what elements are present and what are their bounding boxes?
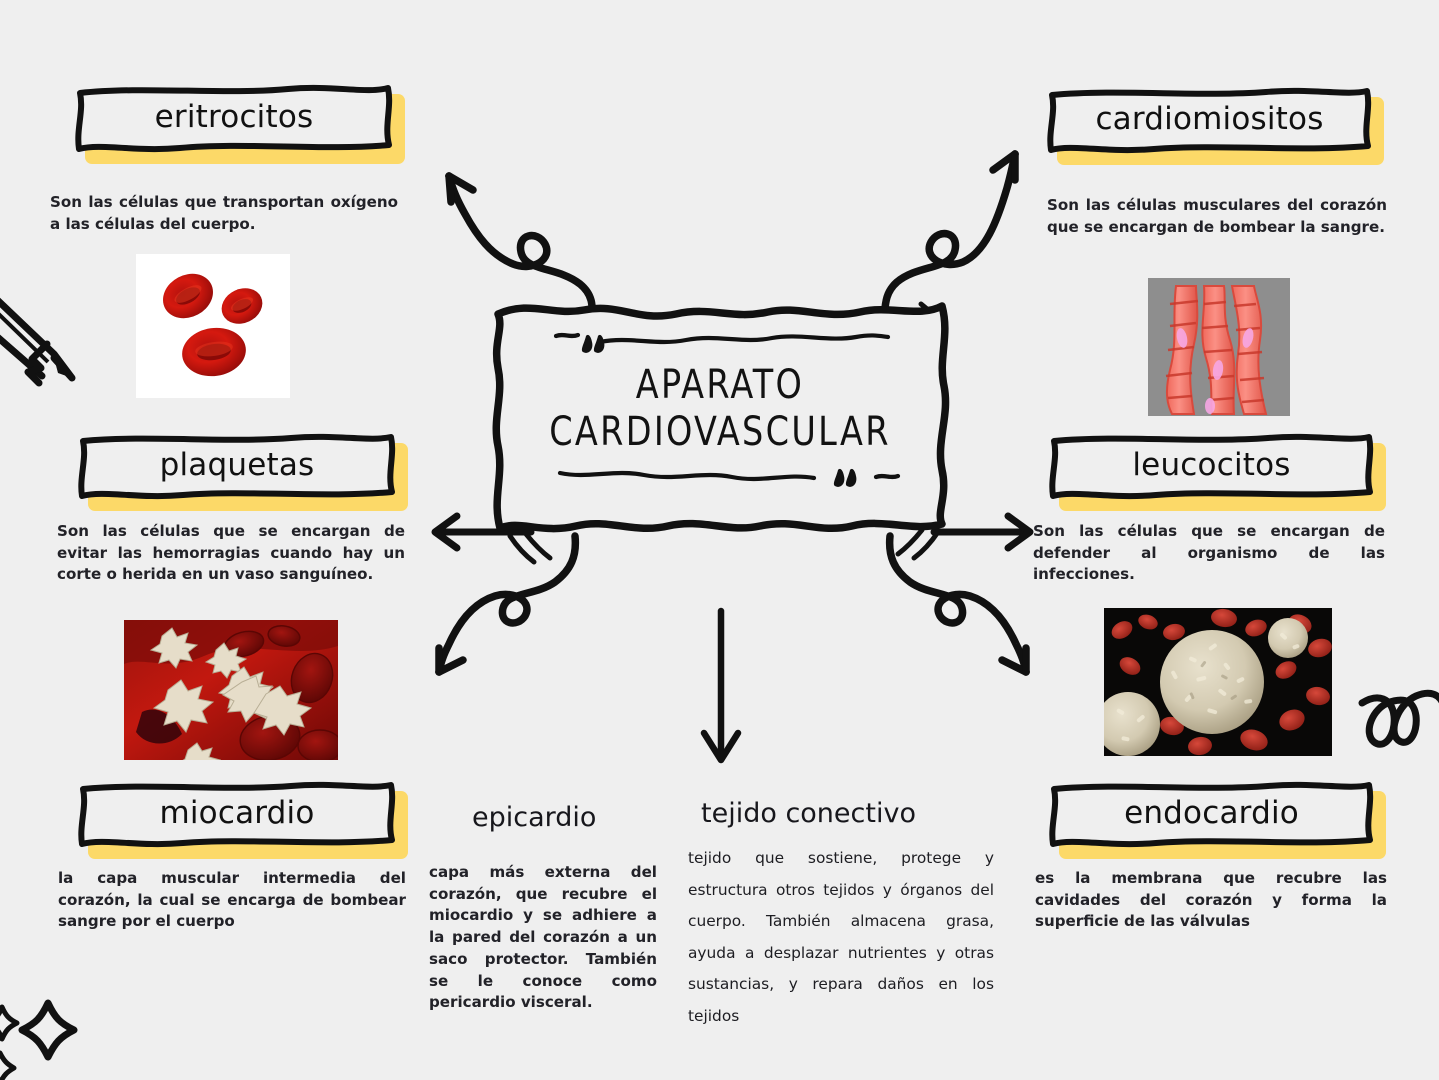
node-leucocitos-description: Son las células que se encargan de defen… [1033,521,1385,586]
node-eritrocitos-title: eritrocitos [74,83,394,153]
connector-arrow-down-left [425,530,615,690]
node-plaquetas-description: Son las células que se encargan de evita… [57,521,405,586]
node-miocardio-box[interactable]: miocardio [77,780,397,848]
center-node[interactable]: APARATO CARDIOVASCULAR [480,280,960,538]
node-eritrocitos-box[interactable]: eritrocitos [74,83,394,153]
node-leucocitos-title: leucocitos [1048,432,1375,500]
node-tejido-conectivo-title: tejido conectivo [701,798,916,829]
pencil-icon [0,246,88,386]
node-endocardio-title: endocardio [1048,780,1375,848]
node-miocardio-description: la capa muscular intermedia del corazón,… [58,868,406,933]
sparkles-icon [0,985,110,1080]
node-cardiomiositos-description: Son las células musculares del corazón q… [1047,195,1387,238]
node-cardiomiositos-image [1148,278,1290,416]
connector-arrow-down-right [850,530,1040,690]
node-endocardio-description: es la membrana que recubre las cavidades… [1035,868,1387,933]
node-leucocitos-image [1104,608,1332,756]
node-epicardio-description: capa más externa del corazón, que recubr… [429,862,657,1014]
node-cardiomiositos-box[interactable]: cardiomiositos [1046,86,1373,154]
node-eritrocitos-image [136,254,290,398]
center-title-line1: APARATO [636,362,804,409]
node-leucocitos-box[interactable]: leucocitos [1048,432,1375,500]
node-endocardio-box[interactable]: endocardio [1048,780,1375,848]
node-eritrocitos-description: Son las células que transportan oxígeno … [50,192,398,235]
connector-arrow-down [690,605,752,770]
node-miocardio-title: miocardio [77,780,397,848]
mindmap-canvas: APARATO CARDIOVASCULAR eritrocitos Son l… [0,0,1439,1080]
node-cardiomiositos-title: cardiomiositos [1046,86,1373,154]
center-node-title: APARATO CARDIOVASCULAR [497,280,943,538]
node-tejido-conectivo-description: tejido que sostiene, protege y estructur… [688,843,994,1032]
node-plaquetas-image [124,620,338,760]
node-plaquetas-title: plaquetas [77,432,397,500]
squiggle-icon [1358,650,1439,775]
node-epicardio-title: epicardio [472,802,596,833]
center-title-line2: CARDIOVASCULAR [549,409,891,456]
node-plaquetas-box[interactable]: plaquetas [77,432,397,500]
